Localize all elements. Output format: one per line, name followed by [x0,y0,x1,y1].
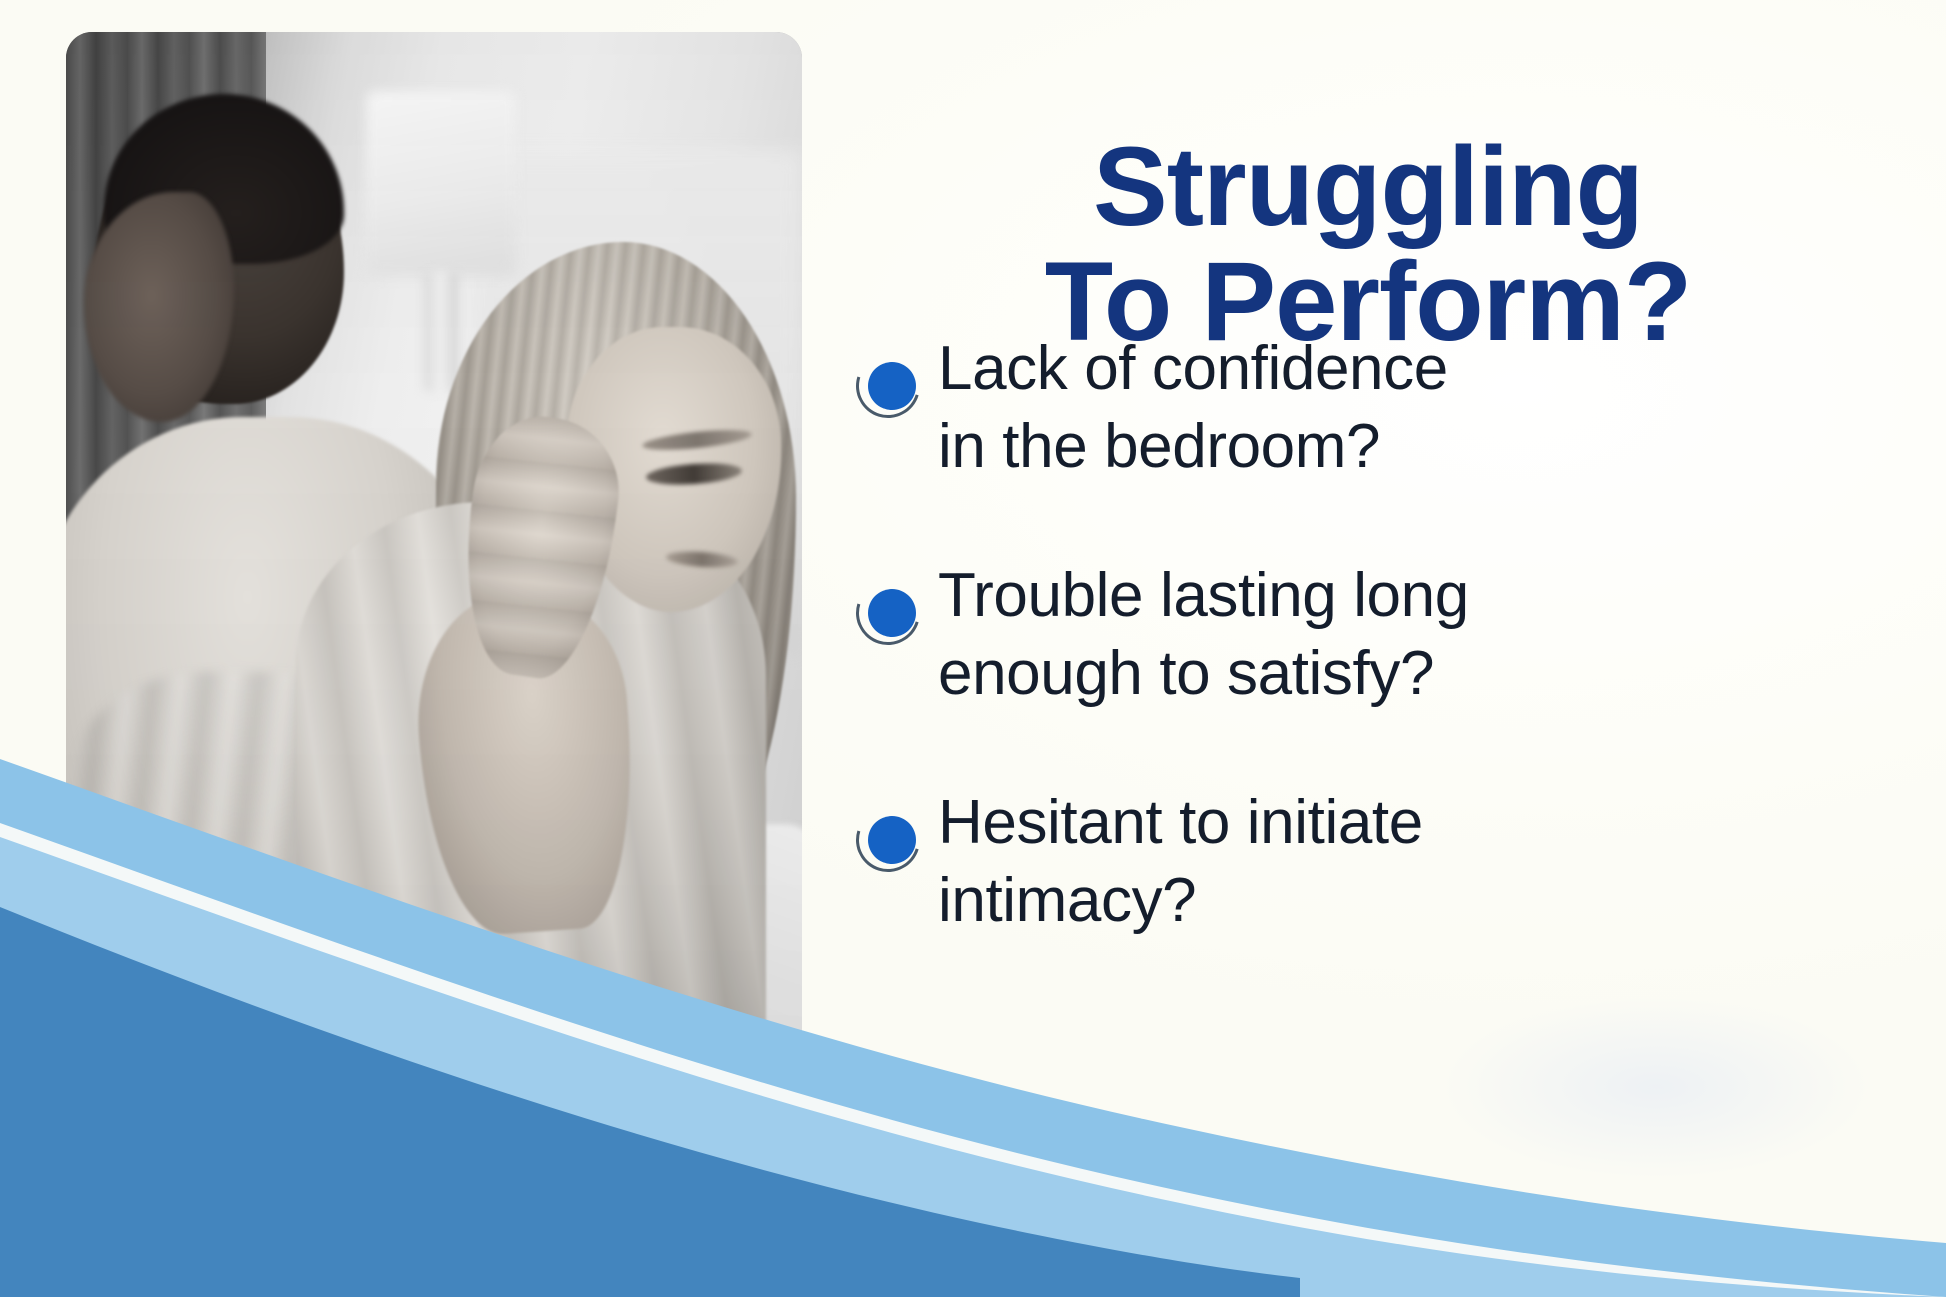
list-item-label: Lack of confidence in the bedroom? [938,330,1448,485]
list-item-label: Hesitant to initiate intimacy? [938,784,1423,939]
list-item: Hesitant to initiate intimacy? [856,784,1896,939]
bullet-dot-icon [856,579,920,643]
list-item: Trouble lasting long enough to satisfy? [856,557,1896,712]
list-item: Lack of confidence in the bedroom? [856,330,1896,485]
photo-grading-overlay [66,32,802,1244]
page-title: Struggling To Perform? [858,129,1878,360]
couple-photo [66,32,802,1244]
benefit-list: Lack of confidence in the bedroom? Troub… [856,330,1896,939]
bullet-circle-icon [868,589,916,637]
bullet-dot-icon [856,806,920,870]
bullet-dot-icon [856,352,920,416]
content-column: Struggling To Perform? Lack of confidenc… [848,0,1908,1297]
bullet-circle-icon [868,816,916,864]
slide: Struggling To Perform? Lack of confidenc… [0,0,1946,1297]
list-item-label: Trouble lasting long enough to satisfy? [938,557,1469,712]
bullet-circle-icon [868,362,916,410]
headline-line-1: Struggling [1093,124,1643,249]
